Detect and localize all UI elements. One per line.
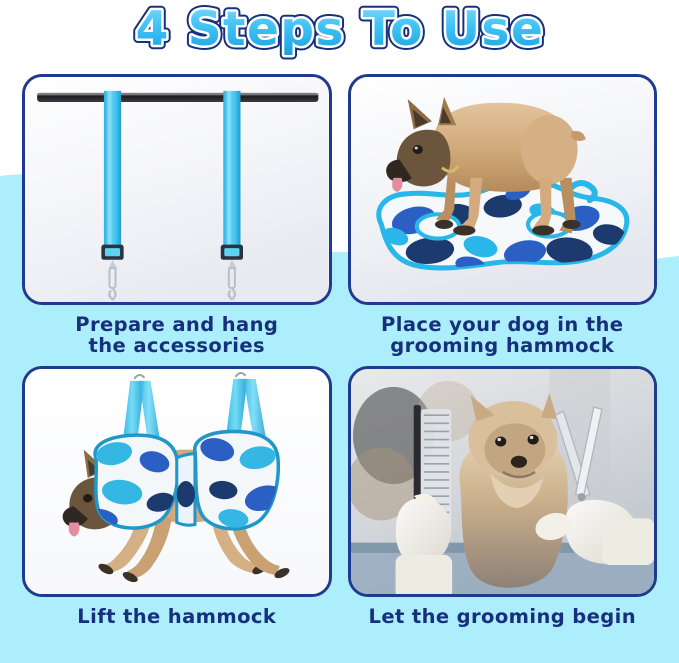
title-fill: 4 Steps To Use — [135, 2, 544, 57]
grooming-illustration — [351, 369, 655, 594]
step-2-photo — [348, 74, 658, 305]
step-4-caption: Let the grooming begin — [369, 606, 637, 627]
step-card-2: Place your dog in the grooming hammock — [348, 74, 658, 366]
yorkshire-terrier — [459, 392, 567, 587]
step-card-3: Lift the hammock — [22, 366, 332, 658]
straps-illustration — [25, 77, 329, 302]
page-title: 4 Steps To Use 4 Steps To Use 4 Steps To… — [0, 0, 679, 62]
dog-on-mat-illustration — [351, 77, 655, 302]
dog-lifted-illustration — [25, 369, 329, 594]
gloved-hand-left — [395, 493, 452, 593]
step-3-caption: Lift the hammock — [77, 606, 276, 627]
title-artwork: 4 Steps To Use 4 Steps To Use 4 Steps To… — [105, 1, 575, 61]
step-4-photo — [348, 366, 658, 597]
step-1-photo — [22, 74, 332, 305]
step-card-4: Let the grooming begin — [348, 366, 658, 658]
step-card-1: Prepare and hang the accessories — [22, 74, 332, 366]
steps-grid: Prepare and hang the accessories — [0, 62, 679, 663]
step-3-photo — [22, 366, 332, 597]
step-2-caption: Place your dog in the grooming hammock — [381, 314, 623, 356]
step-1-caption: Prepare and hang the accessories — [75, 314, 278, 356]
infographic-root: 4 Steps To Use 4 Steps To Use 4 Steps To… — [0, 0, 679, 663]
